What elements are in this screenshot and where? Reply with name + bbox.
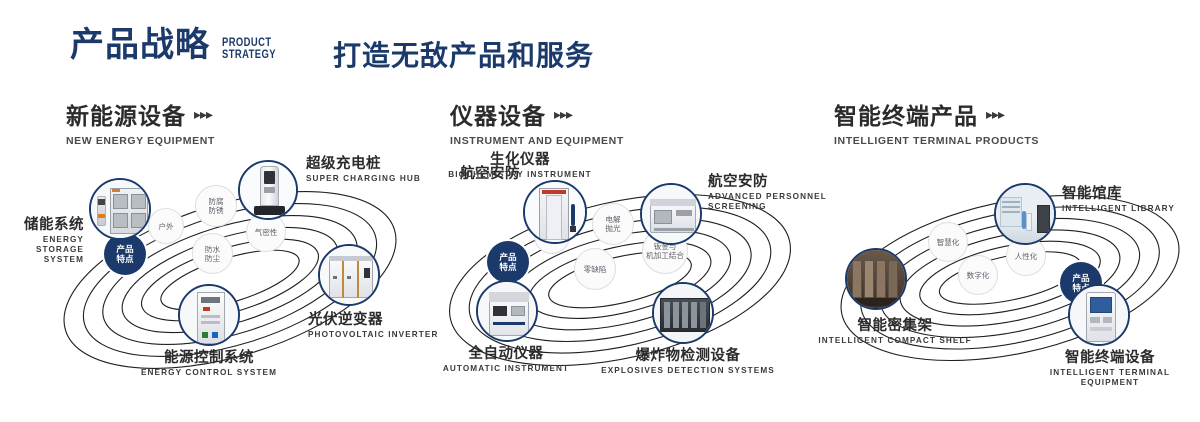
caption-automatic-instrument: 全自动仪器 AUTOMATIC INSTRUMENT [416, 346, 596, 374]
title-english-line1: PRODUCT [222, 37, 276, 49]
photo-super-charging-hub[interactable] [238, 160, 298, 220]
section-title-en: NEW ENERGY EQUIPMENT [66, 135, 215, 147]
page-title: 产品战略 PRODUCT STRATEGY [70, 26, 288, 64]
photo-biochemistry-instrument[interactable] [523, 180, 587, 244]
title-english: PRODUCT STRATEGY [222, 37, 276, 61]
section-title-en: INSTRUMENT AND EQUIPMENT [450, 135, 624, 147]
feature-bubble: 零缺陷 [574, 248, 616, 290]
photo-energy-storage-system[interactable] [89, 178, 151, 240]
photo-explosives-detection-systems[interactable] [652, 282, 714, 344]
caption-biochemistry-instrument: 生化仪器 BIOCHEMISTRY INSTRUMENT [440, 152, 600, 180]
photo-intelligent-library[interactable] [994, 183, 1056, 245]
caption-intelligent-compact-shelf: 智能密集架 INTELLIGENT COMPACT SHELF [815, 318, 975, 346]
caption-advanced-personnel-screening: 航空安防 ADVANCED PERSONNEL SCREENING [708, 174, 838, 212]
caption-energy-storage-system: 储能系统 ENERGY STORAGE SYSTEM [0, 217, 84, 265]
photo-automatic-instrument[interactable] [476, 280, 538, 342]
chevrons-icon: ▸▸▸ [986, 106, 1004, 123]
chevrons-icon: ▸▸▸ [194, 106, 212, 123]
photo-energy-control-system[interactable] [178, 284, 240, 346]
section-heading-new-energy: 新能源设备▸▸▸ NEW ENERGY EQUIPMENT [66, 97, 215, 147]
feature-bubble: 智慧化 [928, 222, 968, 262]
section-title-cn: 仪器设备 [450, 97, 546, 131]
feature-bubble: 数字化 [958, 255, 998, 295]
cluster-new-energy: 户外 防腐防锈 气密性 防水防尘 产品特点 [40, 160, 420, 390]
photo-advanced-personnel-screening[interactable] [640, 183, 702, 245]
section-heading-intelligent-terminal: 智能终端产品▸▸▸ INTELLIGENT TERMINAL PRODUCTS [834, 97, 1039, 147]
feature-bubble: 防水防尘 [192, 233, 233, 274]
title-english-line2: STRATEGY [222, 49, 276, 61]
feature-bubble: 电解抛光 [592, 203, 634, 245]
poster-canvas: 产品战略 PRODUCT STRATEGY 打造无敌产品和服务 新能源设备▸▸▸… [0, 0, 1200, 422]
section-title-cn: 智能终端产品 [834, 97, 978, 131]
photo-intelligent-terminal-equipment[interactable] [1068, 284, 1130, 346]
core-bubble-product-features: 产品特点 [487, 241, 529, 283]
cluster-instrument: 镜面 电解抛光 钣金与机加工结合 零缺陷 产品特点 航空安防 [430, 160, 810, 390]
caption-intelligent-library: 智能馆库 INTELLIGENT LIBRARY [1062, 186, 1200, 214]
caption-photovoltaic-inverter: 光伏逆变器 PHOTOVOLTAIC INVERTER [308, 312, 448, 340]
section-title-cn: 新能源设备 [66, 97, 186, 131]
section-heading-instrument: 仪器设备▸▸▸ INSTRUMENT AND EQUIPMENT [450, 97, 624, 147]
photo-photovoltaic-inverter[interactable] [318, 244, 380, 306]
caption-explosives-detection-systems: 爆炸物检测设备 EXPLOSIVES DETECTION SYSTEMS [593, 348, 783, 376]
section-title-en: INTELLIGENT TERMINAL PRODUCTS [834, 135, 1039, 147]
caption-intelligent-terminal-equipment: 智能终端设备 INTELLIGENT TERMINAL EQUIPMENT [1020, 350, 1200, 388]
feature-bubble: 防腐防锈 [195, 185, 237, 227]
chevrons-icon: ▸▸▸ [554, 106, 572, 123]
caption-energy-control-system: 能源控制系统 ENERGY CONTROL SYSTEM [89, 350, 329, 378]
cluster-intelligent-terminal: 智慧化 数字化 人性化 产品特点 智能馆库 INTELLIGENT LIB [820, 160, 1200, 390]
feature-bubble: 户外 [148, 208, 184, 244]
title-chinese: 产品战略 [70, 26, 210, 64]
photo-intelligent-compact-shelf[interactable] [845, 248, 907, 310]
page-subtitle: 打造无敌产品和服务 [333, 34, 594, 74]
